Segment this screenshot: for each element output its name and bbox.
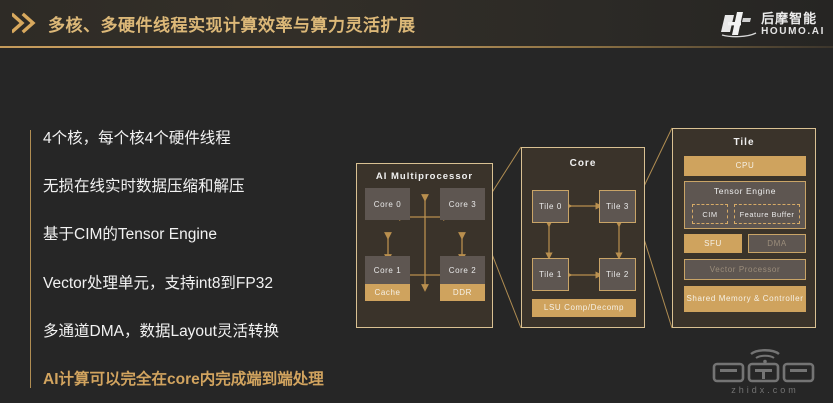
list-item-highlighted: AI计算可以完全在core内完成端到端处理 bbox=[43, 371, 360, 388]
watermark-url: zhidx.com bbox=[731, 385, 799, 395]
bullet-list: 4个核，每个核4个硬件线程 无损在线实时数据压缩和解压 基于CIM的Tensor… bbox=[30, 130, 360, 388]
brand-logo: 后摩智能 HOUMO.AI bbox=[693, 8, 825, 40]
brand-name-en: HOUMO.AI bbox=[761, 27, 825, 37]
block-core-2: Core 2 bbox=[440, 256, 485, 284]
block-tile-3: Tile 3 bbox=[599, 190, 636, 223]
block-core-1: Core 1 bbox=[365, 256, 410, 284]
tensor-engine-label: Tensor Engine bbox=[685, 182, 805, 196]
block-tensor-engine: Tensor Engine CIM Feature Buffer bbox=[684, 181, 806, 229]
block-core-3: Core 3 bbox=[440, 188, 485, 220]
double-chevron-right-icon bbox=[12, 12, 40, 34]
list-item: 基于CIM的Tensor Engine bbox=[43, 226, 360, 243]
bar-lsu-comp-decomp: LSU Comp/Decomp bbox=[532, 299, 636, 317]
panel-tile: Tile CPU Tensor Engine CIM Feature Buffe… bbox=[672, 128, 816, 328]
list-item: 4个核，每个核4个硬件线程 bbox=[43, 130, 360, 147]
houmo-h-logo-icon bbox=[721, 10, 757, 38]
block-cpu: CPU bbox=[684, 156, 806, 176]
watermark-zhidx: zhidx.com bbox=[707, 343, 823, 395]
block-sfu: SFU bbox=[684, 234, 742, 253]
block-core-0: Core 0 bbox=[365, 188, 410, 220]
block-tile-0: Tile 0 bbox=[532, 190, 569, 223]
list-item: 无损在线实时数据压缩和解压 bbox=[43, 178, 360, 195]
page-title: 多核、多硬件线程实现计算效率与算力灵活扩展 bbox=[48, 11, 416, 36]
panel-core: Core Tile 0 Tile 3 Tile 1 Tile 2 LSU Com… bbox=[521, 147, 645, 328]
list-item: Vector处理单元，支持int8到FP32 bbox=[43, 275, 360, 292]
slide-header: 多核、多硬件线程实现计算效率与算力灵活扩展 后摩智能 HOUMO.AI bbox=[0, 0, 833, 46]
bar-ddr: DDR bbox=[440, 284, 485, 301]
block-cim: CIM bbox=[692, 204, 728, 224]
block-shared-memory: Shared Memory & Controller bbox=[684, 286, 806, 312]
slide-root: 多核、多硬件线程实现计算效率与算力灵活扩展 后摩智能 HOUMO.AI 4个核，… bbox=[0, 0, 833, 403]
zhidx-logo-icon bbox=[711, 349, 819, 383]
list-item: 多通道DMA，数据Layout灵活转换 bbox=[43, 323, 360, 340]
brand-name-cn: 后摩智能 bbox=[761, 12, 817, 25]
panel-ai-multiprocessor: AI Multiprocessor Core 0 Core 3 Core 1 C… bbox=[356, 163, 493, 328]
block-tile-1: Tile 1 bbox=[532, 258, 569, 291]
block-feature-buffer: Feature Buffer bbox=[734, 204, 800, 224]
brand-text: 后摩智能 HOUMO.AI bbox=[761, 12, 825, 37]
panel-title: Tile bbox=[673, 137, 815, 148]
block-vector-processor: Vector Processor bbox=[684, 259, 806, 280]
block-tile-2: Tile 2 bbox=[599, 258, 636, 291]
header-divider bbox=[0, 46, 833, 48]
block-dma: DMA bbox=[748, 234, 806, 253]
bar-cache: Cache bbox=[365, 284, 410, 301]
